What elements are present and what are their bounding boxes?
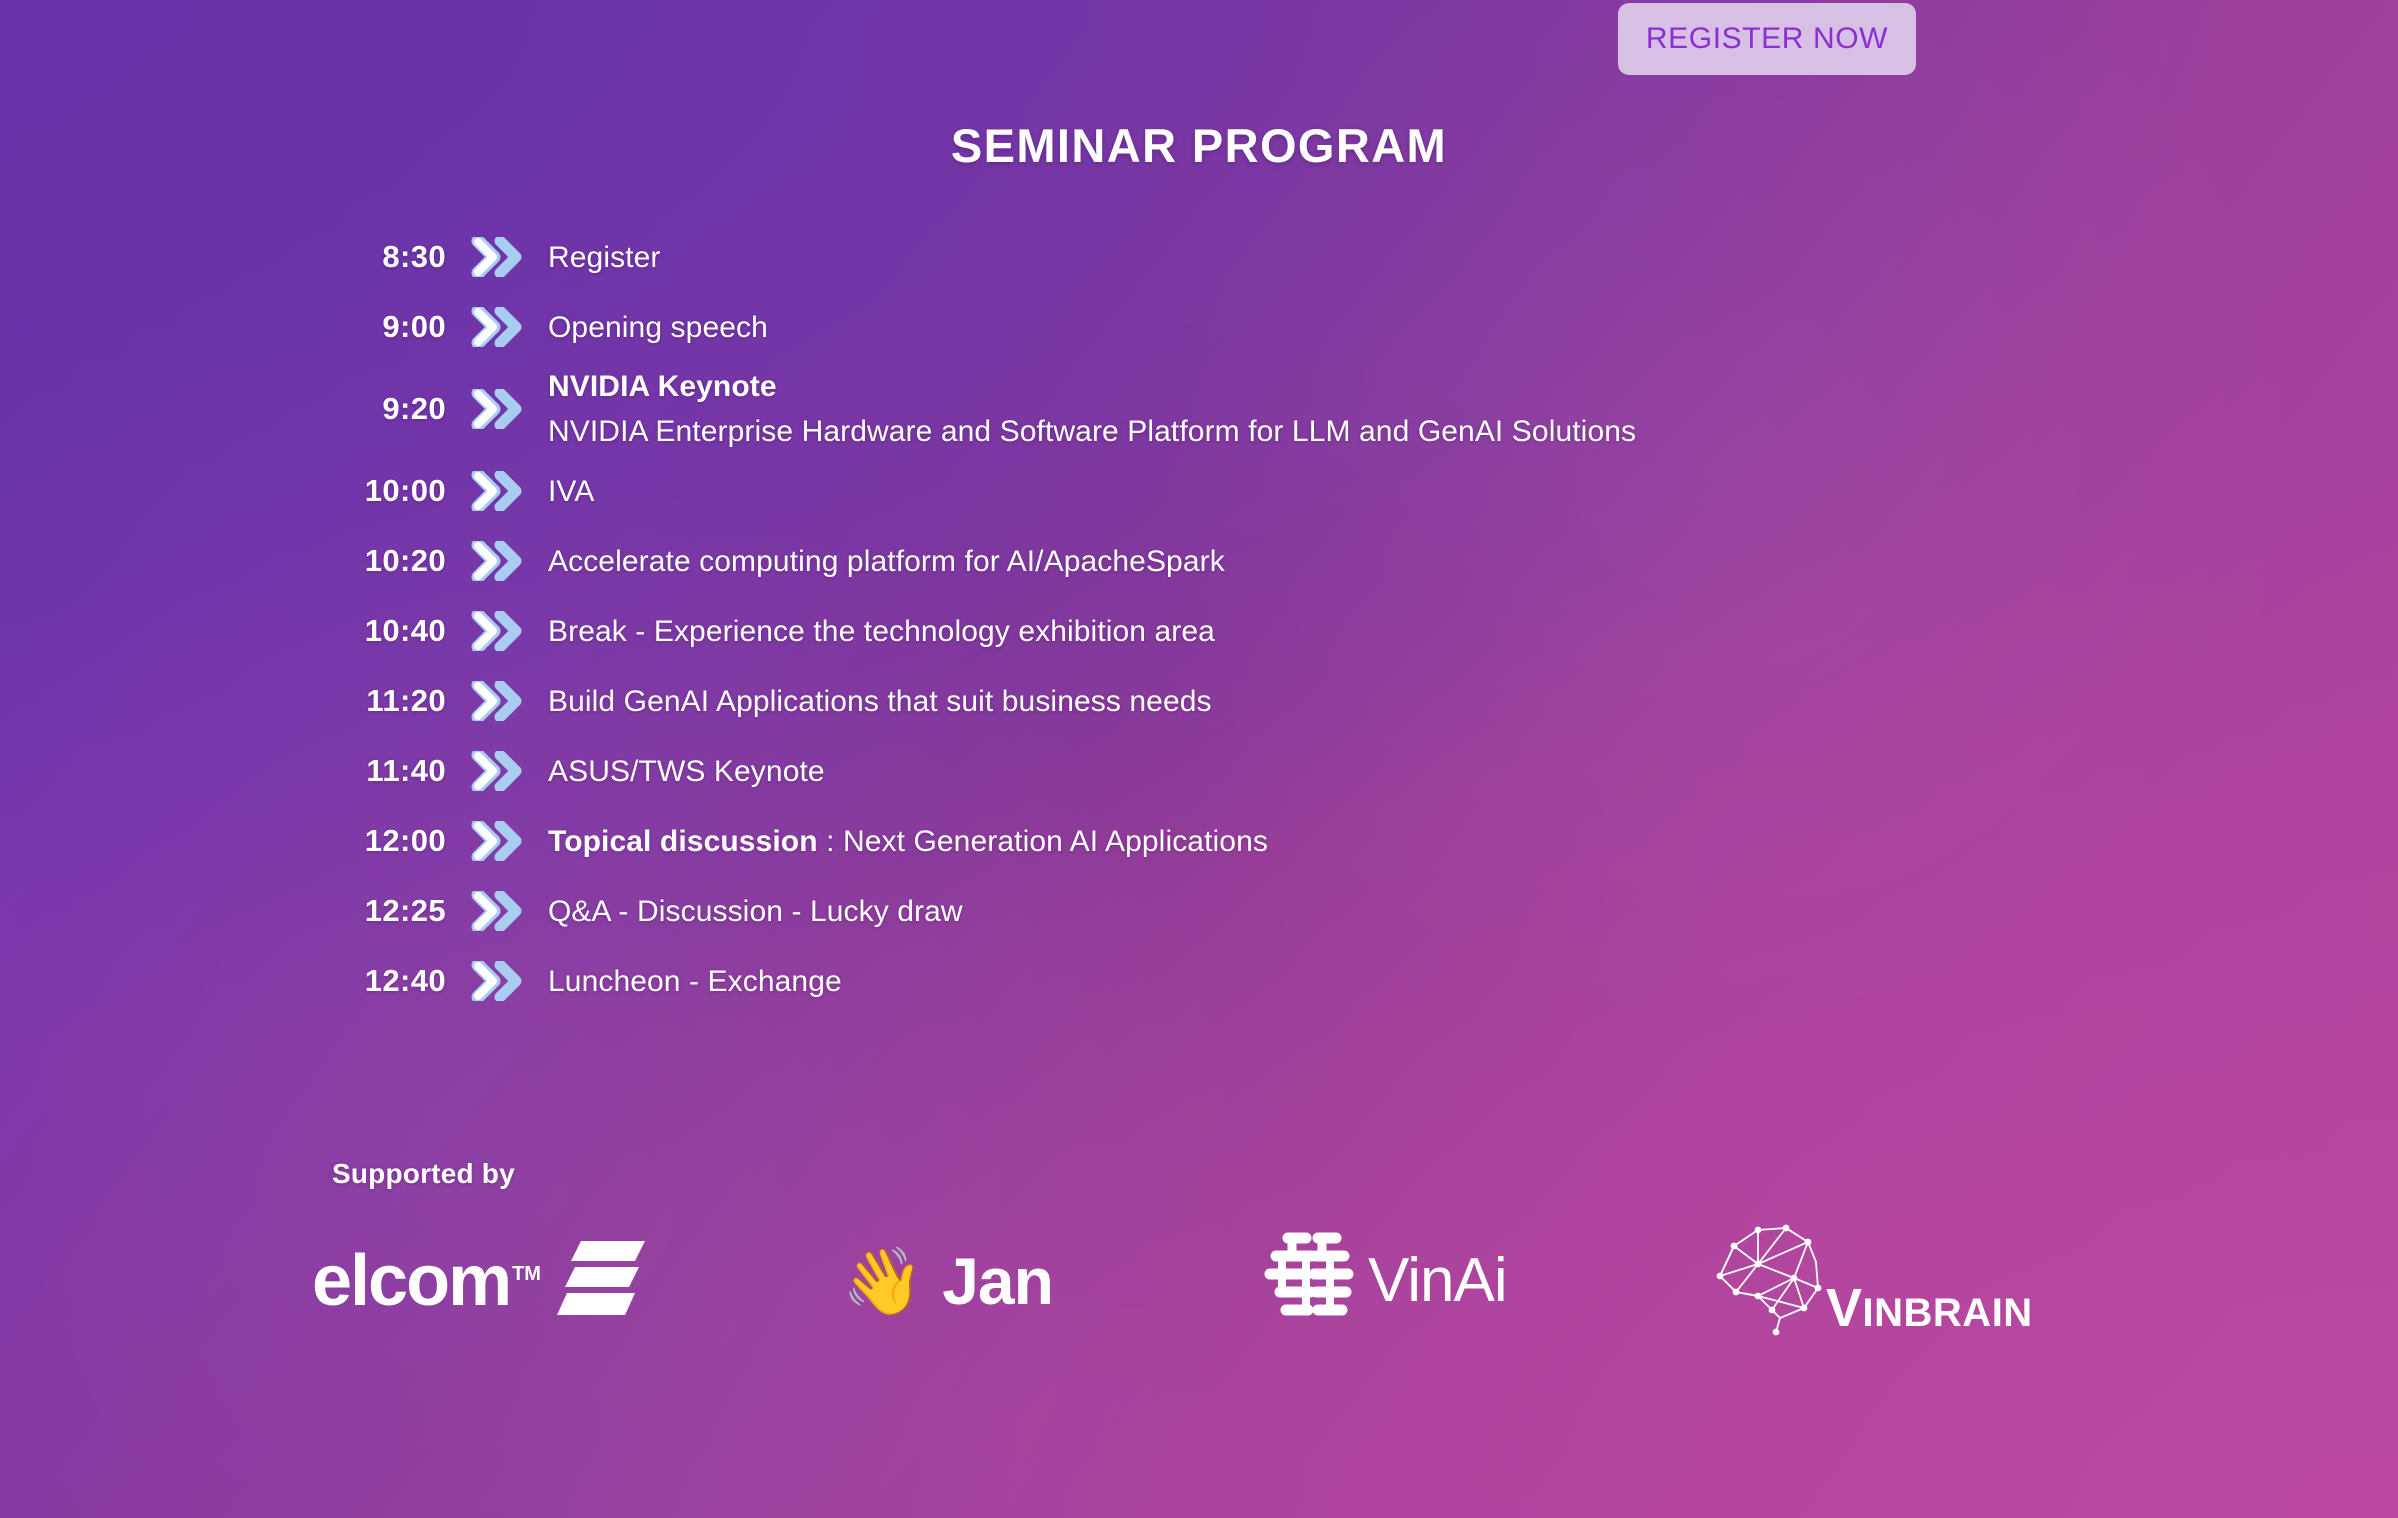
schedule-row: 12:40Luncheon - Exchange <box>0 946 2398 1016</box>
schedule-row-title: ASUS/TWS Keynote <box>548 752 825 791</box>
schedule-row-title-text: Opening speech <box>548 311 768 344</box>
schedule-row-body: NVIDIA KeynoteNVIDIA Enterprise Hardware… <box>548 367 1636 451</box>
schedule-row: 9:20NVIDIA KeynoteNVIDIA Enterprise Hard… <box>0 362 2398 456</box>
schedule-row-time: 10:40 <box>336 613 446 649</box>
double-chevron-right-icon <box>470 751 532 791</box>
slide-background: REGISTER NOW SEMINAR PROGRAM 8:30Registe… <box>0 0 2398 1518</box>
double-chevron-right-icon <box>470 237 532 277</box>
schedule-row-time: 12:40 <box>336 963 446 999</box>
double-chevron-right-icon <box>470 389 532 429</box>
schedule-row-title-text: Q&A - Discussion - Lucky draw <box>548 895 963 928</box>
vinai-bars-mark-icon <box>1262 1230 1354 1331</box>
elcom-wordmark-text: elcom <box>312 1241 510 1321</box>
vinbrain-wordmark: VINBRAIN <box>1826 1277 2033 1339</box>
schedule-row-title-text: IVA <box>548 475 594 508</box>
schedule-row-body: ASUS/TWS Keynote <box>548 752 825 791</box>
schedule-row-title: IVA <box>548 472 594 511</box>
schedule-row-title: Opening speech <box>548 308 768 347</box>
supported-by-label: Supported by <box>332 1158 2398 1190</box>
schedule-row: 12:25Q&A - Discussion - Lucky draw <box>0 876 2398 946</box>
schedule-row-time: 12:25 <box>336 893 446 929</box>
schedule-row: 11:20Build GenAI Applications that suit … <box>0 666 2398 736</box>
elcom-e-bars-mark-icon <box>555 1239 647 1322</box>
schedule-row-title: Q&A - Discussion - Lucky draw <box>548 892 963 931</box>
schedule-row-body: Luncheon - Exchange <box>548 962 842 1001</box>
schedule-row-subtitle: NVIDIA Enterprise Hardware and Software … <box>548 412 1636 451</box>
double-chevron-right-icon <box>470 611 532 651</box>
double-chevron-right-icon <box>470 821 532 861</box>
schedule-row-title-text: Luncheon - Exchange <box>548 965 842 998</box>
schedule-row: 9:00Opening speech <box>0 292 2398 362</box>
schedule-row: 11:40ASUS/TWS Keynote <box>0 736 2398 806</box>
schedule-row-time: 10:20 <box>336 543 446 579</box>
schedule-row-title-text: Build GenAI Applications that suit busin… <box>548 685 1212 718</box>
elcom-trademark-symbol: TM <box>512 1263 541 1285</box>
schedule-row-title-text: ASUS/TWS Keynote <box>548 755 825 788</box>
brain-network-mark-icon <box>1712 1218 1842 1343</box>
elcom-wordmark: elcomTM <box>312 1245 541 1317</box>
sponsors-section: Supported by elcomTM <box>0 1158 2398 1343</box>
schedule-row-body: Accelerate computing platform for AI/Apa… <box>548 542 1225 581</box>
schedule-row: 10:00IVA <box>0 456 2398 526</box>
schedule-row-title-emphasis: Topical discussion <box>548 825 818 858</box>
schedule-row-title: Build GenAI Applications that suit busin… <box>548 682 1212 721</box>
schedule-row: 12:00Topical discussion : Next Generatio… <box>0 806 2398 876</box>
schedule-row-body: Register <box>548 238 661 277</box>
schedule-row-title: Topical discussion : Next Generation AI … <box>548 822 1268 861</box>
schedule-row-body: Break - Experience the technology exhibi… <box>548 612 1215 651</box>
schedule-row-title-text: Break - Experience the technology exhibi… <box>548 615 1215 648</box>
schedule-row-title: Register <box>548 238 661 277</box>
page-title: SEMINAR PROGRAM <box>0 118 2398 173</box>
schedule-row-body: Build GenAI Applications that suit busin… <box>548 682 1212 721</box>
vinbrain-wordmark-cap: V <box>1826 1278 1863 1338</box>
schedule-row-time: 11:40 <box>336 753 446 789</box>
schedule-row: 8:30Register <box>0 222 2398 292</box>
schedule-row-title-emphasis: NVIDIA Keynote <box>548 370 777 403</box>
sponsor-logo-jan[interactable]: 👋 Jan <box>842 1248 1142 1314</box>
double-chevron-right-icon <box>470 541 532 581</box>
double-chevron-right-icon <box>470 681 532 721</box>
sponsor-logo-strip: elcomTM 👋 Jan <box>0 1218 2398 1343</box>
double-chevron-right-icon <box>470 891 532 931</box>
schedule-row: 10:40Break - Experience the technology e… <box>0 596 2398 666</box>
sponsor-logo-vinai[interactable]: VinAi <box>1262 1230 1582 1331</box>
schedule-row-title: Break - Experience the technology exhibi… <box>548 612 1215 651</box>
double-chevron-right-icon <box>470 307 532 347</box>
schedule-row: 10:20Accelerate computing platform for A… <box>0 526 2398 596</box>
schedule-row-time: 12:00 <box>336 823 446 859</box>
vinai-wordmark: VinAi <box>1368 1250 1507 1312</box>
schedule-row-time: 8:30 <box>336 239 446 275</box>
schedule-row-body: IVA <box>548 472 594 511</box>
schedule-row-title-text: Register <box>548 241 661 274</box>
seminar-schedule-list: 8:30Register9:00Opening speech9:20NVIDIA… <box>0 222 2398 1016</box>
double-chevron-right-icon <box>470 471 532 511</box>
schedule-row-body: Opening speech <box>548 308 768 347</box>
schedule-row-title-text: : Next Generation AI Applications <box>818 825 1268 858</box>
vinbrain-wordmark-text: INBRAIN <box>1863 1291 2033 1335</box>
schedule-row-title: Accelerate computing platform for AI/Apa… <box>548 542 1225 581</box>
schedule-row-time: 9:20 <box>336 391 446 427</box>
schedule-row-body: Q&A - Discussion - Lucky draw <box>548 892 963 931</box>
sponsor-logo-elcom[interactable]: elcomTM <box>312 1239 672 1322</box>
jan-wordmark: Jan <box>942 1248 1053 1314</box>
double-chevron-right-icon <box>470 961 532 1001</box>
schedule-row-time: 9:00 <box>336 309 446 345</box>
schedule-row-time: 10:00 <box>336 473 446 509</box>
waving-hand-emoji-icon: 👋 <box>842 1248 924 1314</box>
schedule-row-title: NVIDIA Keynote <box>548 367 1636 406</box>
sponsor-logo-vinbrain[interactable]: VINBRAIN <box>1712 1218 2042 1343</box>
register-now-button[interactable]: REGISTER NOW <box>1618 3 1916 75</box>
schedule-row-body: Topical discussion : Next Generation AI … <box>548 822 1268 861</box>
schedule-row-time: 11:20 <box>336 683 446 719</box>
schedule-row-title-text: Accelerate computing platform for AI/Apa… <box>548 545 1225 578</box>
schedule-row-title: Luncheon - Exchange <box>548 962 842 1001</box>
